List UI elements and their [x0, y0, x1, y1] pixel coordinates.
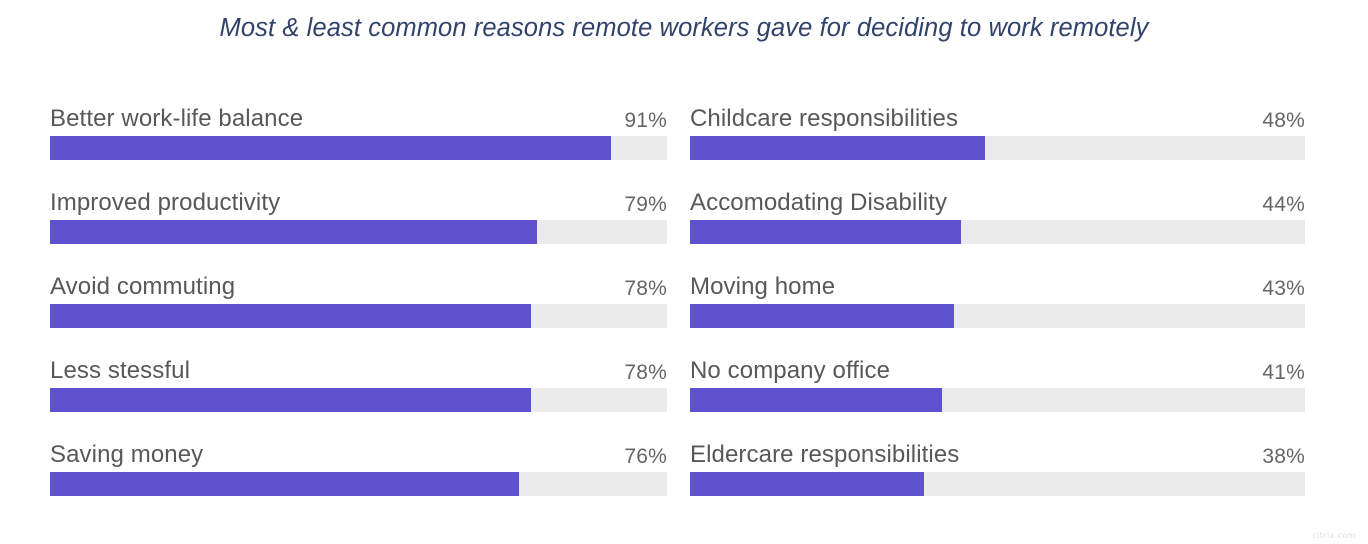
- bar-label: Accomodating Disability: [690, 188, 947, 218]
- bar-row: Better work-life balance91%: [50, 104, 667, 188]
- bar-row-header: Accomodating Disability44%: [690, 188, 1305, 220]
- bar-row: Accomodating Disability44%: [690, 188, 1305, 272]
- bar-value-label: 48%: [1262, 104, 1305, 136]
- bar-fill: [690, 472, 924, 496]
- bar-value-label: 43%: [1262, 272, 1305, 304]
- bar-label: No company office: [690, 356, 890, 386]
- bar-fill: [50, 220, 537, 244]
- bar-row-header: Moving home43%: [690, 272, 1305, 304]
- bar-track: [690, 472, 1305, 496]
- bar-row: Childcare responsibilities48%: [690, 104, 1305, 188]
- bar-value-label: 91%: [624, 104, 667, 136]
- bar-value-label: 44%: [1262, 188, 1305, 220]
- bar-fill: [690, 388, 942, 412]
- bar-value-label: 41%: [1262, 356, 1305, 388]
- bar-track: [690, 136, 1305, 160]
- watermark: citrix.com: [1312, 531, 1356, 540]
- bar-row: Saving money76%: [50, 440, 667, 524]
- bar-fill: [50, 388, 531, 412]
- bar-label: Moving home: [690, 272, 835, 302]
- bar-value-label: 76%: [624, 440, 667, 472]
- bar-row: Avoid commuting78%: [50, 272, 667, 356]
- bar-row-header: Saving money76%: [50, 440, 667, 472]
- bar-value-label: 78%: [624, 356, 667, 388]
- chart-column-most-common: Better work-life balance91%Improved prod…: [50, 104, 667, 524]
- bar-fill: [50, 304, 531, 328]
- bar-row: Improved productivity79%: [50, 188, 667, 272]
- bar-label: Better work-life balance: [50, 104, 303, 134]
- bar-row: No company office41%: [690, 356, 1305, 440]
- bar-row: Less stessful78%: [50, 356, 667, 440]
- bar-row-header: Avoid commuting78%: [50, 272, 667, 304]
- bar-value-label: 38%: [1262, 440, 1305, 472]
- chart-columns: Better work-life balance91%Improved prod…: [0, 0, 1368, 544]
- bar-label: Less stessful: [50, 356, 190, 386]
- bar-row-header: Better work-life balance91%: [50, 104, 667, 136]
- bar-row-header: Childcare responsibilities48%: [690, 104, 1305, 136]
- bar-fill: [690, 220, 961, 244]
- bar-track: [50, 472, 667, 496]
- bar-value-label: 78%: [624, 272, 667, 304]
- bar-row-header: Improved productivity79%: [50, 188, 667, 220]
- bar-track: [690, 304, 1305, 328]
- bar-row-header: Eldercare responsibilities38%: [690, 440, 1305, 472]
- bar-label: Improved productivity: [50, 188, 280, 218]
- bar-fill: [50, 136, 611, 160]
- bar-row: Eldercare responsibilities38%: [690, 440, 1305, 524]
- bar-track: [50, 304, 667, 328]
- bar-track: [50, 136, 667, 160]
- bar-track: [690, 220, 1305, 244]
- bar-fill: [690, 304, 954, 328]
- bar-row-header: No company office41%: [690, 356, 1305, 388]
- bar-fill: [50, 472, 519, 496]
- chart-column-least-common: Childcare responsibilities48%Accomodatin…: [690, 104, 1305, 524]
- bar-label: Avoid commuting: [50, 272, 235, 302]
- bar-track: [690, 388, 1305, 412]
- bar-track: [50, 388, 667, 412]
- bar-label: Saving money: [50, 440, 203, 470]
- chart-container: Most & least common reasons remote worke…: [0, 0, 1368, 544]
- bar-label: Eldercare responsibilities: [690, 440, 959, 470]
- bar-fill: [690, 136, 985, 160]
- bar-track: [50, 220, 667, 244]
- bar-label: Childcare responsibilities: [690, 104, 958, 134]
- bar-row: Moving home43%: [690, 272, 1305, 356]
- bar-row-header: Less stessful78%: [50, 356, 667, 388]
- bar-value-label: 79%: [624, 188, 667, 220]
